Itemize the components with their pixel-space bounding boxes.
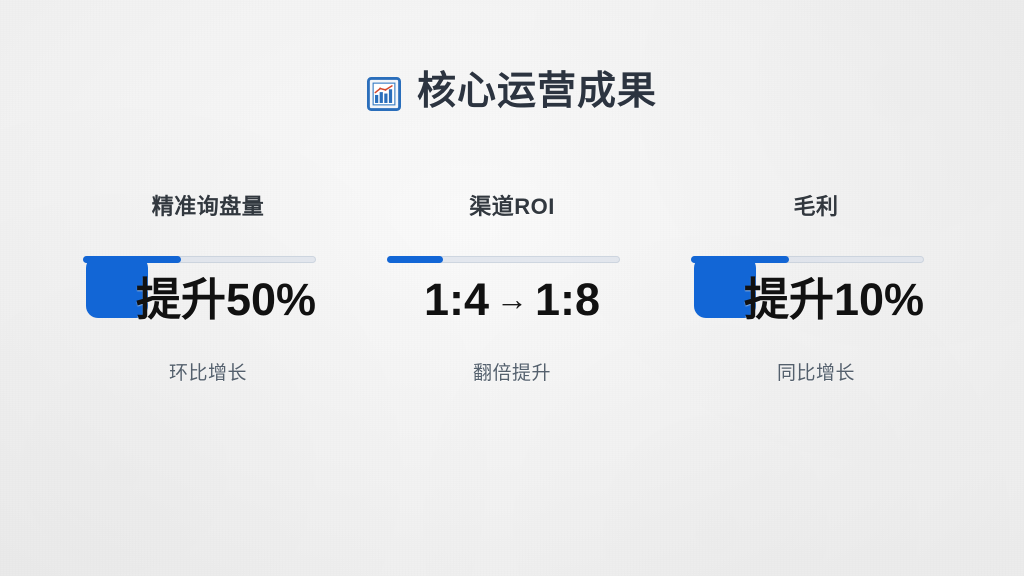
metric-value: 提升10% — [709, 276, 959, 325]
metric-label: 渠道ROI — [469, 196, 555, 218]
metric-card-roi: 渠道ROI 1:4→1:8 翻倍提升 — [366, 196, 658, 383]
metric-label: 毛利 — [793, 196, 838, 218]
metric-card-inquiry: 精准询盘量 提升50% 环比增长 — [62, 196, 354, 383]
metric-label: 精准询盘量 — [152, 196, 265, 218]
metric-value-from: 1:4 — [424, 274, 489, 325]
slide-title-row: 核心运营成果 — [0, 72, 1024, 111]
metric-value: 提升50% — [101, 276, 351, 325]
metric-body: 1:4→1:8 — [387, 256, 637, 362]
progress-fill — [387, 256, 443, 263]
progress-track — [387, 256, 620, 263]
metric-sublabel: 翻倍提升 — [473, 364, 551, 383]
slide-canvas: 核心运营成果 精准询盘量 提升50% 环比增长 渠道ROI 1:4 — [0, 0, 1024, 576]
metric-sublabel: 环比增长 — [169, 364, 247, 383]
arrow-right-icon: → — [489, 281, 535, 317]
metric-body: 提升10% — [691, 256, 941, 362]
bar-chart-icon — [367, 77, 401, 111]
metric-value: 1:4→1:8 — [387, 276, 637, 325]
metric-value-to: 1:8 — [535, 274, 600, 325]
metric-card-list: 精准询盘量 提升50% 环比增长 渠道ROI 1:4→1:8 翻倍提升 — [62, 196, 962, 383]
page-title: 核心运营成果 — [417, 72, 657, 111]
metric-card-gross-margin: 毛利 提升10% 同比增长 — [670, 196, 962, 383]
metric-sublabel: 同比增长 — [777, 364, 855, 383]
metric-body: 提升50% — [83, 256, 333, 362]
